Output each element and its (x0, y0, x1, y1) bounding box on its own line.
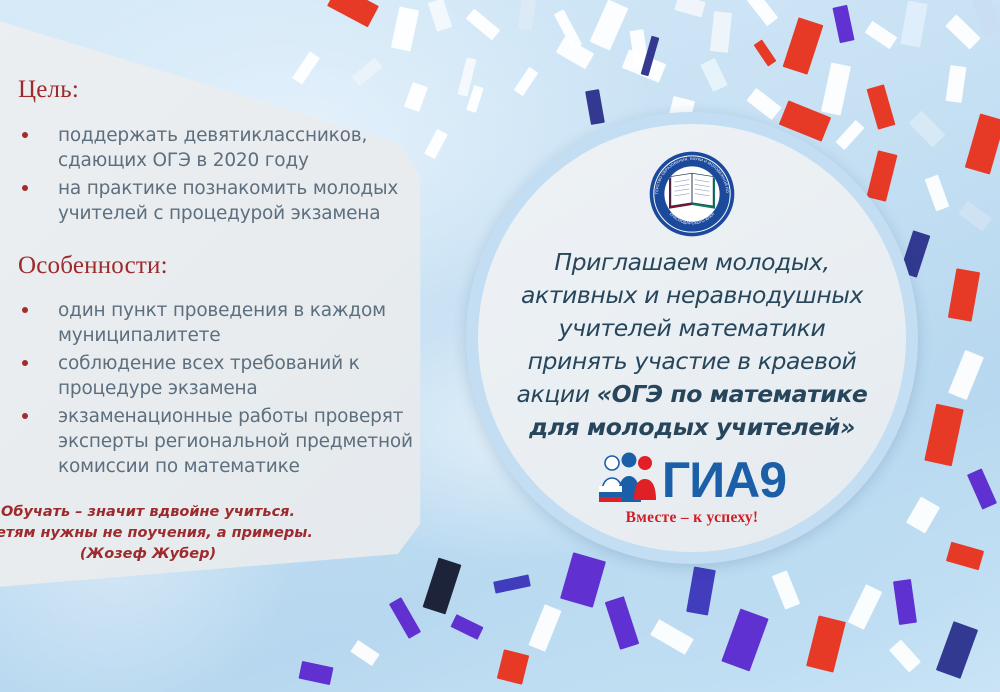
quote-author: (Жозеф Жубер) (0, 544, 328, 565)
goal-heading: Цель: (18, 76, 79, 104)
quote-line-1: Обучать – значит вдвойне учиться. (0, 502, 328, 523)
message-line-3: учителей математики (559, 314, 826, 342)
poster-root: Цель: поддержать девятиклассников, сдающ… (0, 0, 1000, 692)
list-item: соблюдение всех требований к процедуре э… (18, 351, 418, 401)
message-line-2: активных и неравнодушных (521, 281, 863, 309)
circle-badge-face: МИНИСТЕРСТВО ОБРАЗОВАНИЯ, НАУКИ И МОЛОДЕ… (478, 124, 906, 552)
message-line-1: Приглашаем молодых, (554, 248, 829, 276)
gia9-logo-row: ГИА9 (598, 452, 786, 508)
quote-line-2: Детям нужны не поучения, а примеры. (0, 523, 328, 544)
message-line-6-emphasis: для молодых учителей» (529, 413, 855, 441)
three-people-icon (598, 452, 660, 509)
message-line-4: принять участие в краевой (528, 347, 857, 375)
gia9-logo: ГИА9 Вместе – к успеху! (598, 452, 786, 527)
circle-badge-ring: МИНИСТЕРСТВО ОБРАЗОВАНИЯ, НАУКИ И МОЛОДЕ… (466, 112, 918, 564)
goal-list: поддержать девятиклассников, сдающих ОГЭ… (18, 123, 418, 229)
ministry-emblem-icon: МИНИСТЕРСТВО ОБРАЗОВАНИЯ, НАУКИ И МОЛОДЕ… (646, 148, 738, 240)
list-item: экзаменационные работы проверят эксперты… (18, 404, 418, 479)
quote-block: Обучать – значит вдвойне учиться. Детям … (0, 502, 328, 565)
invitation-message: Приглашаем молодых, активных и неравноду… (494, 246, 890, 444)
message-line-5-emphasis: «ОГЭ по математике (597, 380, 868, 408)
gia9-wordmark: ГИА9 (662, 455, 786, 505)
features-list: один пункт проведения в каждом муниципал… (18, 298, 418, 482)
gia9-tagline: Вместе – к успеху! (626, 509, 759, 527)
list-item: на практике познакомить молодых учителей… (18, 176, 418, 226)
features-heading: Особенности: (18, 252, 168, 280)
list-item: один пункт проведения в каждом муниципал… (18, 298, 418, 348)
message-line-5-plain: акции (517, 380, 597, 408)
